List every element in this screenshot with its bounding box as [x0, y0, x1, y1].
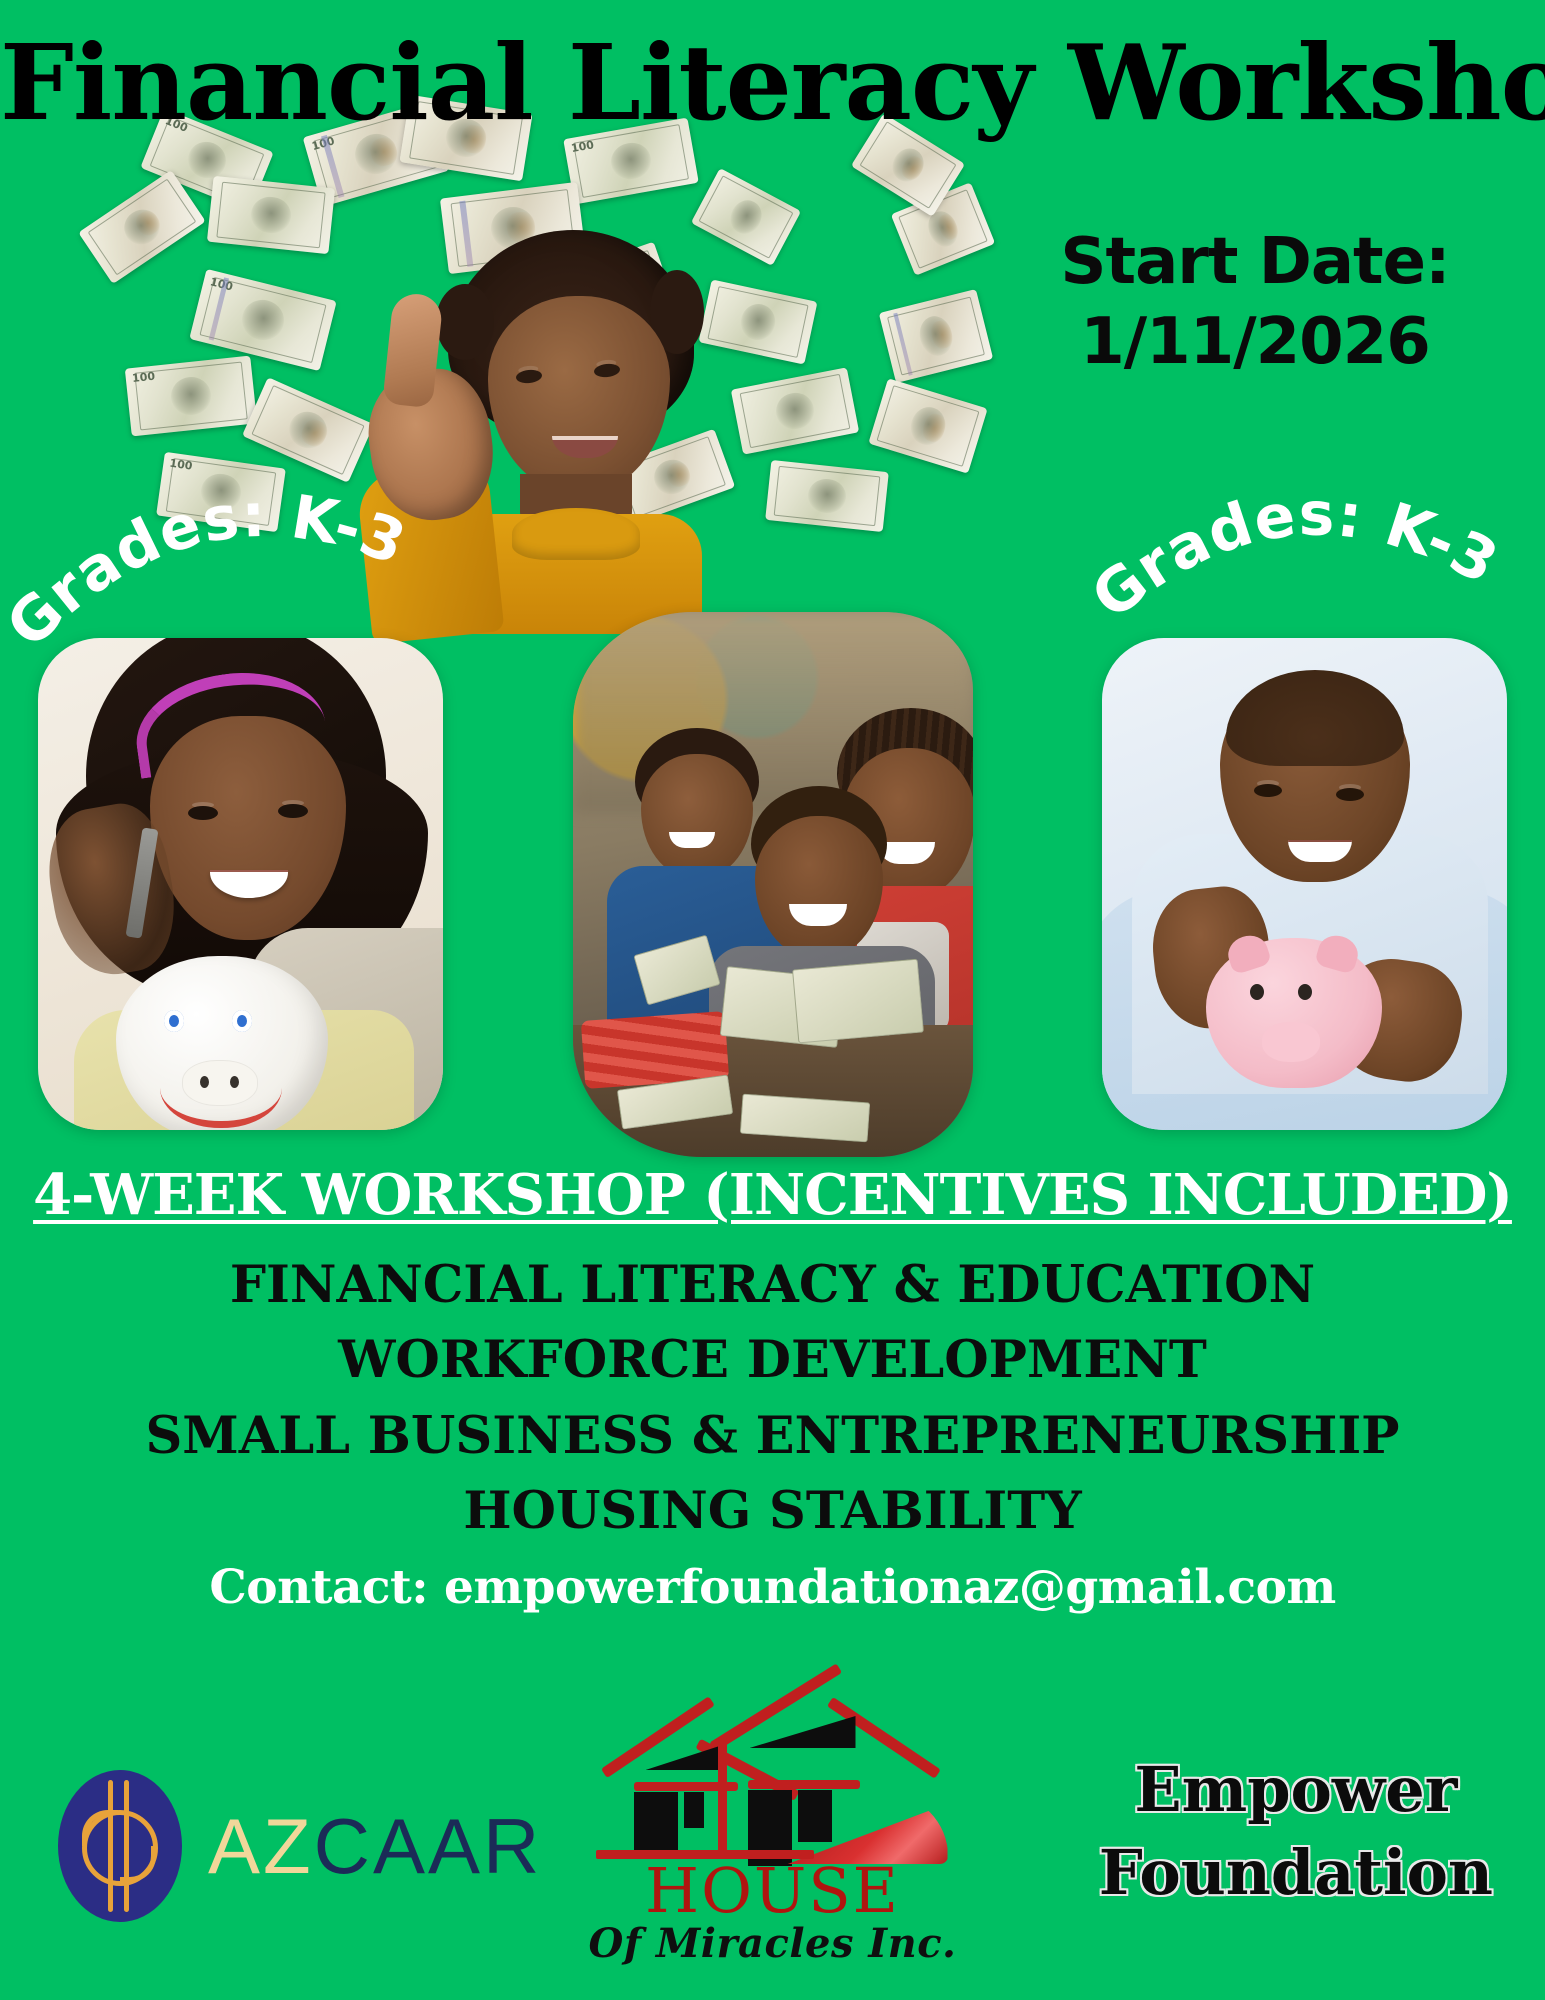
dollar-bill-icon — [699, 279, 818, 364]
grades-right-label: Grades: K-3 — [1079, 480, 1510, 633]
topic-item: HOUSING STABILITY — [0, 1474, 1545, 1549]
dollar-bill-icon: 100 — [189, 269, 336, 371]
photo-boy-with-pink-piggy-bank — [1102, 638, 1507, 1130]
dollar-bill-icon — [879, 289, 993, 383]
house-of-miracles-logo: HOUSE Of Miracles Inc. — [578, 1682, 968, 1972]
grades-badge-left: Grades: K-3 — [16, 478, 446, 668]
dollar-bill-icon — [207, 176, 335, 254]
topic-item: FINANCIAL LITERACY & EDUCATION — [0, 1248, 1545, 1323]
start-date-label: Start Date: — [1020, 222, 1490, 302]
dollar-bill-icon — [691, 168, 801, 266]
dollar-bill-icon — [868, 378, 987, 473]
azcaar-word-az: AZ — [208, 1802, 314, 1890]
grades-badge-right: Grades: K-3 — [1097, 478, 1527, 668]
empower-line-2: Foundation — [1099, 1831, 1493, 1914]
contact-email[interactable]: Contact: empowerfoundationaz@gmail.com — [0, 1560, 1545, 1615]
dollar-bill-icon — [731, 367, 859, 454]
empower-line-1: Empower — [1099, 1748, 1493, 1831]
start-date-value: 1/11/2026 — [1020, 302, 1490, 382]
start-date-block: Start Date: 1/11/2026 — [1020, 222, 1490, 382]
workshop-headline: 4-WEEK WORKSHOP (INCENTIVES INCLUDED) — [0, 1162, 1545, 1228]
photo-girl-with-white-piggy-bank — [38, 638, 443, 1130]
azcaar-word-caar: CAAR — [314, 1802, 543, 1890]
house-of-miracles-wordmark: HOUSE — [578, 1854, 968, 1927]
dollar-bill-icon — [765, 460, 889, 532]
page-title: Financial Literacy Workshop — [0, 28, 1545, 137]
photo-children-at-market-counting-money — [573, 612, 973, 1157]
dollar-bill-icon: 100 — [125, 356, 257, 437]
topic-item: WORKFORCE DEVELOPMENT — [0, 1323, 1545, 1398]
azcaar-wordmark: AZCAAR — [208, 1807, 542, 1885]
workshop-details: 4-WEEK WORKSHOP (INCENTIVES INCLUDED) FI… — [0, 1162, 1545, 1615]
dollar-bill-icon — [78, 170, 206, 284]
azcaar-logo: AZCAAR — [58, 1770, 542, 1922]
topic-item: SMALL BUSINESS & ENTREPRENEURSHIP — [0, 1399, 1545, 1474]
dollar-bill-icon — [891, 182, 995, 275]
grades-left-label: Grades: K-3 — [0, 481, 415, 662]
azcaar-dollar-emblem-icon — [58, 1770, 182, 1922]
flyer-canvas: 100 100 100 100 — [0, 0, 1545, 2000]
footer-logos: AZCAAR HOUSE Of Mirac — [0, 1670, 1545, 2000]
house-roof-icon — [590, 1682, 956, 1862]
empower-foundation-logo: Empower Foundation — [1099, 1748, 1493, 1914]
house-of-miracles-subtitle: Of Miracles Inc. — [578, 1920, 968, 1967]
